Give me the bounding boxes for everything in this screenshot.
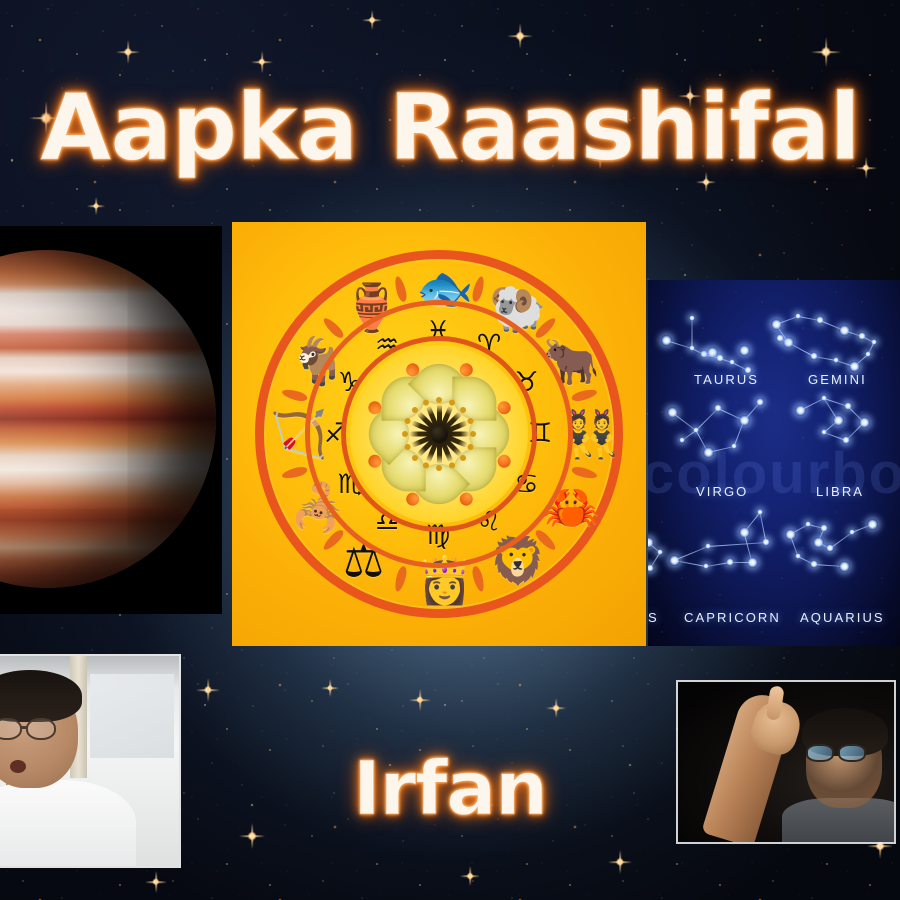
star-flare <box>460 866 480 886</box>
constellation-label-taurus: TAURUS <box>694 372 759 387</box>
constellation-star-libra <box>821 429 827 435</box>
constellation-star-gemini <box>849 361 860 372</box>
star-flare <box>145 871 167 893</box>
constellation-star-capricorn <box>747 557 758 568</box>
constellation-star-gemini <box>865 351 871 357</box>
constellation-label-aquarius: AQUARIUS <box>800 610 885 625</box>
star-flare <box>507 23 533 49</box>
constellation-chart-image: colourbo TAURUSGEMINIVIRGOLIBRASCAPRICOR… <box>648 280 900 646</box>
constellation-star-capricorn <box>739 527 750 538</box>
constellation-star-aquarius <box>805 521 811 527</box>
mandala-dot <box>470 431 476 437</box>
constellation-star-virgo <box>731 443 737 449</box>
constellation-star-gemini <box>776 334 784 342</box>
constellation-star-aquarius <box>839 561 850 572</box>
constellation-star-libra <box>859 417 870 428</box>
constellation-label-gemini: GEMINI <box>808 372 867 387</box>
constellation-star-virgo <box>756 398 764 406</box>
constellation-star-gemini <box>816 316 824 324</box>
star-flare <box>811 37 841 67</box>
page-title: Aapka Raashifal <box>0 74 900 181</box>
star-flare <box>608 850 632 874</box>
constellation-star-capricorn <box>705 543 711 549</box>
photo-left-glasses-bridge <box>20 726 28 729</box>
constellation-star-aquarius <box>826 544 834 552</box>
constellation-star-taurus <box>661 335 672 346</box>
constellation-star-gemini <box>833 357 839 363</box>
constellation-star-libra <box>844 402 852 410</box>
zodiac-wheel: 🐟🐏🐂👯🦀🦁👸⚖🦂🏹🐐🏺 ♓♈♉♊♋♌♍♎♏♐♑♒ <box>240 235 638 633</box>
constellation-star-virgo <box>679 437 685 443</box>
zodiac-wheel-image: 🐟🐏🐂👯🦀🦁👸⚖🦂🏹🐐🏺 ♓♈♉♊♋♌♍♎♏♐♑♒ <box>232 222 646 646</box>
constellation-star-taurus <box>689 315 695 321</box>
star-flare <box>362 10 382 30</box>
constellation-label-s: S <box>648 610 659 625</box>
constellation-line-taurus <box>692 319 693 349</box>
constellation-star-virgo <box>693 427 699 433</box>
jupiter-limb-shadow <box>0 226 222 614</box>
constellation-star-libra <box>821 395 827 401</box>
constellation-star-aquarius <box>813 537 824 548</box>
constellation-label-capricorn: CAPRICORN <box>684 610 781 625</box>
jupiter-planet-photo <box>0 226 222 614</box>
constellation-star-virgo <box>739 415 750 426</box>
constellation-star-capricorn <box>726 558 734 566</box>
constellation-star-gemini <box>795 313 801 319</box>
star-flare <box>546 698 566 718</box>
constellation-star-sagittarius-partial <box>657 549 663 555</box>
mandala-sunburst <box>408 403 470 465</box>
constellation-star-taurus <box>689 345 695 351</box>
constellation-star-aquarius <box>795 553 801 559</box>
constellation-star-aquarius <box>785 529 796 540</box>
constellation-star-gemini <box>871 339 877 345</box>
constellation-label-libra: LIBRA <box>816 484 864 499</box>
presenter-name: Irfan <box>0 746 900 832</box>
constellation-star-libra <box>842 436 850 444</box>
zodiac-center-mandala <box>355 350 523 518</box>
constellation-star-virgo <box>667 407 678 418</box>
mandala-dot <box>436 465 442 471</box>
star-flare <box>116 40 140 64</box>
sunburst-hub <box>431 426 448 443</box>
photo-left-glasses-right-lens <box>26 718 56 740</box>
star-flare <box>251 51 273 73</box>
thumbnail-canvas: 🐟🐏🐂👯🦀🦁👸⚖🦂🏹🐐🏺 ♓♈♉♊♋♌♍♎♏♐♑♒ colourbo TAURU… <box>0 0 900 900</box>
constellation-star-taurus <box>716 354 724 362</box>
constellation-star-libra <box>833 415 844 426</box>
constellation-star-capricorn <box>762 538 770 546</box>
constellation-star-virgo <box>703 447 714 458</box>
star-flare <box>321 679 339 697</box>
constellation-star-gemini <box>810 352 818 360</box>
constellation-star-gemini <box>783 337 794 348</box>
constellation-star-gemini <box>839 325 850 336</box>
constellation-star-aquarius <box>820 524 828 532</box>
constellation-star-taurus <box>739 345 750 356</box>
star-flare <box>87 197 105 215</box>
constellation-star-taurus <box>729 359 735 365</box>
constellation-star-gemini <box>771 319 782 330</box>
constellation-star-libra <box>795 405 806 416</box>
constellation-star-aquarius <box>867 519 878 530</box>
constellation-star-capricorn <box>703 563 709 569</box>
star-flare <box>196 678 220 702</box>
constellation-label-virgo: VIRGO <box>696 484 748 499</box>
constellation-star-sagittarius-partial <box>648 537 654 548</box>
constellation-star-aquarius <box>810 560 818 568</box>
constellation-star-aquarius <box>849 529 855 535</box>
constellation-star-gemini <box>858 332 866 340</box>
constellation-star-capricorn <box>757 509 763 515</box>
constellation-star-capricorn <box>669 555 680 566</box>
constellation-star-virgo <box>714 404 722 412</box>
star-flare <box>409 689 431 711</box>
